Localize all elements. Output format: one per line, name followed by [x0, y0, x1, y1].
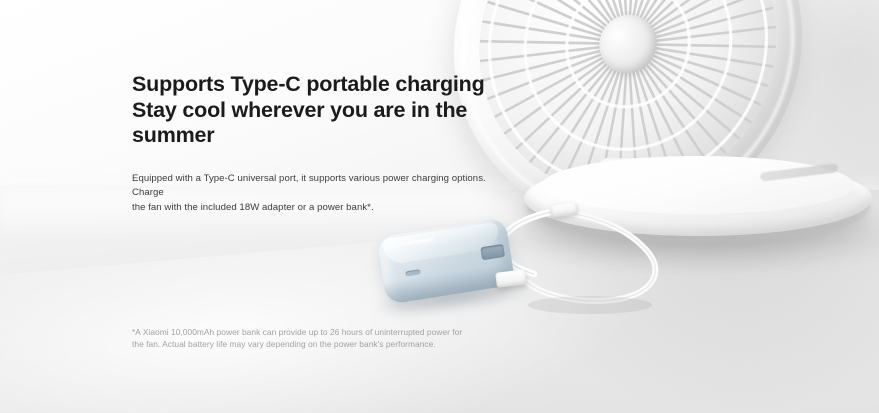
headline-line-1: Supports Type-C portable charging: [132, 72, 504, 98]
footnote-line-2: the fan. Actual battery life may vary de…: [132, 338, 504, 350]
product-banner: Supports Type-C portable charging Stay c…: [0, 0, 879, 413]
body-paragraph: Equipped with a Type-C universal port, i…: [132, 172, 500, 216]
footnote-disclaimer: *A Xiaomi 10,000mAh power bank can provi…: [132, 326, 504, 350]
page-title: Supports Type-C portable charging Stay c…: [132, 72, 504, 149]
copy-block: Supports Type-C portable charging Stay c…: [132, 72, 504, 215]
footnote-line-1: *A Xiaomi 10,000mAh power bank can provi…: [132, 326, 504, 338]
fan-base-top-surface: [542, 156, 854, 214]
body-line-1: Equipped with a Type-C universal port, i…: [132, 172, 500, 201]
body-line-2: the fan with the included 18W adapter or…: [132, 201, 500, 216]
headline-line-2: Stay cool wherever you are in the: [132, 98, 504, 124]
headline-line-3: summer: [132, 123, 504, 149]
